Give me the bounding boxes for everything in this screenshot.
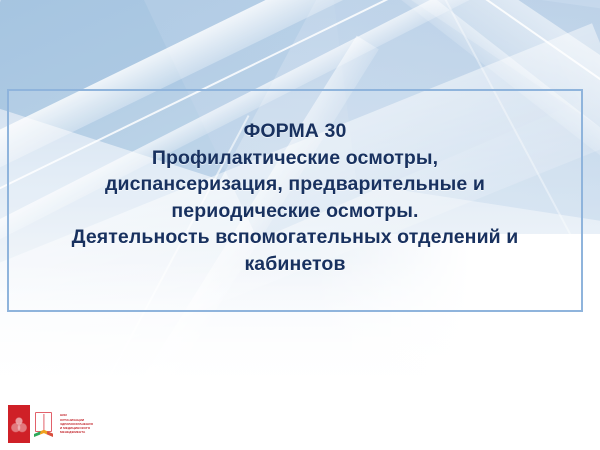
slide-title: ФОРМА 30 Профилактические осмотры, диспа…: [7, 89, 583, 312]
red-flag-emblem-icon: [8, 405, 30, 443]
logo-text-line-5: МЕНЕДЖМЕНТА: [60, 430, 93, 434]
title-line-6: кабинетов: [244, 251, 345, 278]
open-book-icon: [34, 411, 54, 437]
title-line-2: Профилактические осмотры,: [152, 145, 438, 172]
title-line-1: ФОРМА 30: [244, 118, 347, 145]
title-line-5: Деятельность вспомогательных отделений и: [72, 224, 519, 251]
title-line-4: периодические осмотры.: [171, 198, 418, 225]
title-line-3: диспансеризация, предварительные и: [105, 171, 485, 198]
organisation-logo: НИИ ОРГАНИЗАЦИИ ЗДРАВООХРАНЕНИЯ И МЕДИЦИ…: [8, 404, 130, 444]
organisation-logo-text: НИИ ОРГАНИЗАЦИИ ЗДРАВООХРАНЕНИЯ И МЕДИЦИ…: [58, 413, 93, 434]
presentation-slide: ФОРМА 30 Профилактические осмотры, диспа…: [0, 0, 600, 450]
book-outline-icon: [35, 412, 52, 432]
